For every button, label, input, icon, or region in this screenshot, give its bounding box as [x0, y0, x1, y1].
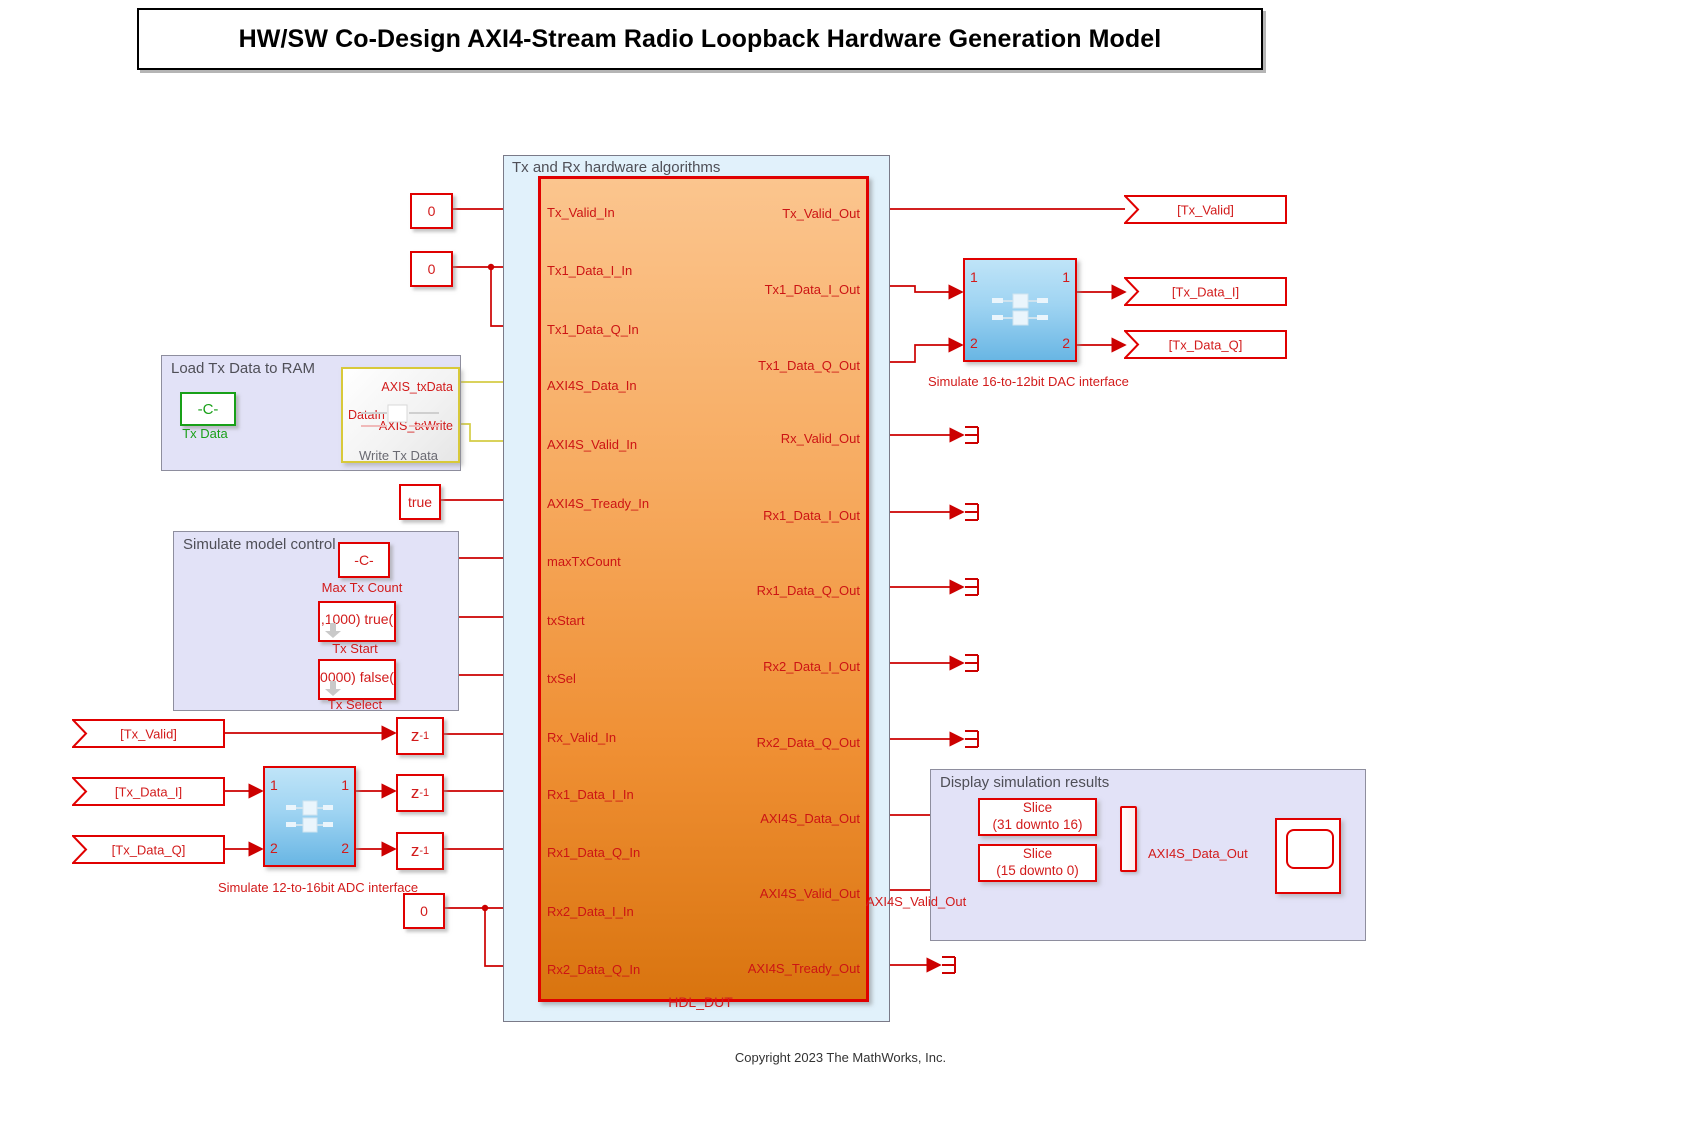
dut-in-rx1-data-q: Rx1_Data_Q_In: [547, 846, 640, 859]
max-tx-count-caption: Max Tx Count: [302, 580, 422, 595]
model-title-banner: HW/SW Co-Design AXI4-Stream Radio Loopba…: [137, 8, 1263, 70]
group-display-results-label: Display simulation results: [940, 774, 1109, 791]
terminator-icon: [963, 577, 981, 597]
slice-low-title: Slice: [1023, 846, 1052, 863]
group-simulate-model-control: Simulate model control: [173, 531, 459, 711]
terminator-rx2-data-q-out[interactable]: [963, 729, 981, 749]
goto-tag-tx-data-q[interactable]: [Tx_Data_Q]: [1124, 330, 1287, 359]
dut-in-tx1-data-q: Tx1_Data_Q_In: [547, 323, 639, 336]
const-tx1-data-in[interactable]: 0: [410, 251, 453, 287]
terminator-rx2-data-i-out[interactable]: [963, 653, 981, 673]
goto-tag-tx-valid-label: [Tx_Valid]: [1124, 202, 1287, 217]
dut-in-tx-sel: txSel: [547, 672, 576, 685]
unit-delay-rx1-data-i[interactable]: z-1: [396, 774, 444, 812]
adc-interface-block[interactable]: 1 2 1 2: [263, 766, 356, 867]
from-tag-tx-data-q[interactable]: [Tx_Data_Q]: [72, 835, 225, 864]
max-tx-count-constant[interactable]: -C-: [338, 542, 390, 578]
slice-low-range: (15 downto 0): [996, 863, 1079, 880]
unit-delay-exp: -1: [419, 787, 429, 799]
max-tx-count-value: -C-: [354, 552, 373, 568]
goto-tag-tx-valid[interactable]: [Tx_Valid]: [1124, 195, 1287, 224]
dut-out-rx1-data-i: Rx1_Data_I_Out: [763, 509, 860, 522]
dut-in-tx-start: txStart: [547, 614, 585, 627]
dut-out-rx2-data-q: Rx2_Data_Q_Out: [757, 736, 860, 749]
mux-signal-label: AXI4S_Data_Out: [1148, 846, 1248, 861]
dut-in-rx2-data-i: Rx2_Data_I_In: [547, 905, 634, 918]
dut-in-rx-valid: Rx_Valid_In: [547, 731, 616, 744]
copyright-text: Copyright 2023 The MathWorks, Inc.: [0, 1050, 1681, 1065]
const-axi4s-tready-in[interactable]: true: [399, 484, 441, 520]
dut-in-max-tx-count: maxTxCount: [547, 555, 621, 568]
tx-data-caption: Tx Data: [155, 426, 255, 441]
goto-tag-tx-data-i-label: [Tx_Data_I]: [1124, 284, 1287, 299]
slice-block-high[interactable]: Slice (31 downto 16): [978, 798, 1097, 836]
write-tx-data-caption: Write Tx Data: [336, 448, 461, 463]
unit-delay-rx-valid-label: z: [411, 726, 420, 746]
scope-screen-icon: [1286, 829, 1334, 869]
terminator-rx1-data-q-out[interactable]: [963, 577, 981, 597]
from-tag-tx-data-i[interactable]: [Tx_Data_I]: [72, 777, 225, 806]
unit-delay-exp: -1: [419, 730, 429, 742]
const-tx-valid-in-value: 0: [428, 203, 436, 219]
tx-start-caption: Tx Start: [295, 641, 415, 656]
dut-out-axi4s-tready: AXI4S_Tready_Out: [748, 962, 860, 975]
tx-data-constant-value: -C-: [198, 401, 219, 418]
dut-in-tx-valid: Tx_Valid_In: [547, 206, 615, 219]
dac-caption: Simulate 16-to-12bit DAC interface: [928, 374, 1108, 389]
const-rx2-data-in[interactable]: 0: [403, 893, 445, 929]
hdl-dut-caption: HDL_DUT: [538, 994, 863, 1010]
slice-high-range: (31 downto 16): [992, 817, 1082, 834]
goto-tag-tx-data-q-label: [Tx_Data_Q]: [1124, 337, 1287, 352]
unit-delay-rx1-q-label: z: [411, 841, 420, 861]
terminator-icon: [940, 955, 958, 975]
dut-wrapper-label: Tx and Rx hardware algorithms: [512, 159, 720, 176]
dut-out-axi4s-valid: AXI4S_Valid_Out: [760, 887, 860, 900]
mux-block[interactable]: [1120, 806, 1137, 872]
dut-out-rx1-data-q: Rx1_Data_Q_Out: [757, 584, 860, 597]
terminator-rx1-data-i-out[interactable]: [963, 502, 981, 522]
dut-out-tx1-data-i: Tx1_Data_I_Out: [765, 283, 860, 296]
tx-select-block[interactable]: 0000) false(: [318, 659, 396, 700]
dac-interface-block[interactable]: 1 2 1 2: [963, 258, 1077, 362]
terminator-axi4s-tready-out[interactable]: [940, 955, 958, 975]
slice-block-low[interactable]: Slice (15 downto 0): [978, 844, 1097, 882]
slice-high-title: Slice: [1023, 800, 1052, 817]
const-rx2-data-in-value: 0: [420, 903, 428, 919]
group-sim-control-label: Simulate model control: [183, 536, 336, 553]
tx-data-constant[interactable]: -C-: [180, 392, 236, 426]
from-tag-tx-data-i-label: [Tx_Data_I]: [72, 784, 225, 799]
from-tag-tx-valid-label: [Tx_Valid]: [72, 726, 225, 741]
terminator-icon: [963, 425, 981, 445]
down-arrow-icon: [324, 681, 344, 697]
adc-caption: Simulate 12-to-16bit ADC interface: [218, 880, 398, 895]
model-canvas: HW/SW Co-Design AXI4-Stream Radio Loopba…: [0, 0, 1681, 1146]
const-tx1-data-in-value: 0: [428, 261, 436, 277]
unit-delay-exp: -1: [419, 845, 429, 857]
dut-in-rx2-data-q: Rx2_Data_Q_In: [547, 963, 640, 976]
goto-tag-tx-data-i[interactable]: [Tx_Data_I]: [1124, 277, 1287, 306]
down-arrow-icon: [324, 623, 344, 639]
dut-out-tx-valid: Tx_Valid_Out: [782, 207, 860, 220]
tx-start-block[interactable]: ,1000) true(: [318, 601, 396, 642]
unit-delay-rx1-i-label: z: [411, 783, 420, 803]
from-tag-tx-data-q-label: [Tx_Data_Q]: [72, 842, 225, 857]
const-axi4s-tready-in-value: true: [408, 494, 432, 510]
terminator-icon: [963, 653, 981, 673]
dut-in-axi4s-valid: AXI4S_Valid_In: [547, 438, 637, 451]
dut-out-tx1-data-q: Tx1_Data_Q_Out: [758, 359, 860, 372]
dut-in-rx1-data-i: Rx1_Data_I_In: [547, 788, 634, 801]
const-tx-valid-in[interactable]: 0: [410, 193, 453, 229]
dut-in-axi4s-tready: AXI4S_Tready_In: [547, 497, 649, 510]
terminator-icon: [963, 502, 981, 522]
unit-delay-rx-valid[interactable]: z-1: [396, 717, 444, 755]
dut-in-axi4s-data: AXI4S_Data_In: [547, 379, 637, 392]
terminator-icon: [963, 729, 981, 749]
from-tag-tx-valid[interactable]: [Tx_Valid]: [72, 719, 225, 748]
slider-glyph-icon: [965, 260, 1075, 360]
dut-out-rx-valid: Rx_Valid_Out: [781, 432, 860, 445]
dut-out-rx2-data-i: Rx2_Data_I_Out: [763, 660, 860, 673]
dut-in-tx1-data-i: Tx1_Data_I_In: [547, 264, 632, 277]
page-title: HW/SW Co-Design AXI4-Stream Radio Loopba…: [239, 25, 1162, 54]
valid-signal-label: AXI4S_Valid_Out: [866, 894, 966, 909]
hdl-dut-block[interactable]: Tx_Valid_In Tx1_Data_I_In Tx1_Data_Q_In …: [538, 176, 869, 1002]
group-load-tx-data-label: Load Tx Data to RAM: [171, 360, 315, 377]
unit-delay-rx1-data-q[interactable]: z-1: [396, 832, 444, 870]
scope-block[interactable]: [1275, 818, 1341, 894]
dut-out-axi4s-data: AXI4S_Data_Out: [760, 812, 860, 825]
tx-select-caption: Tx Select: [295, 697, 415, 712]
terminator-rx-valid-out[interactable]: [963, 425, 981, 445]
slider-glyph-icon: [265, 768, 354, 865]
